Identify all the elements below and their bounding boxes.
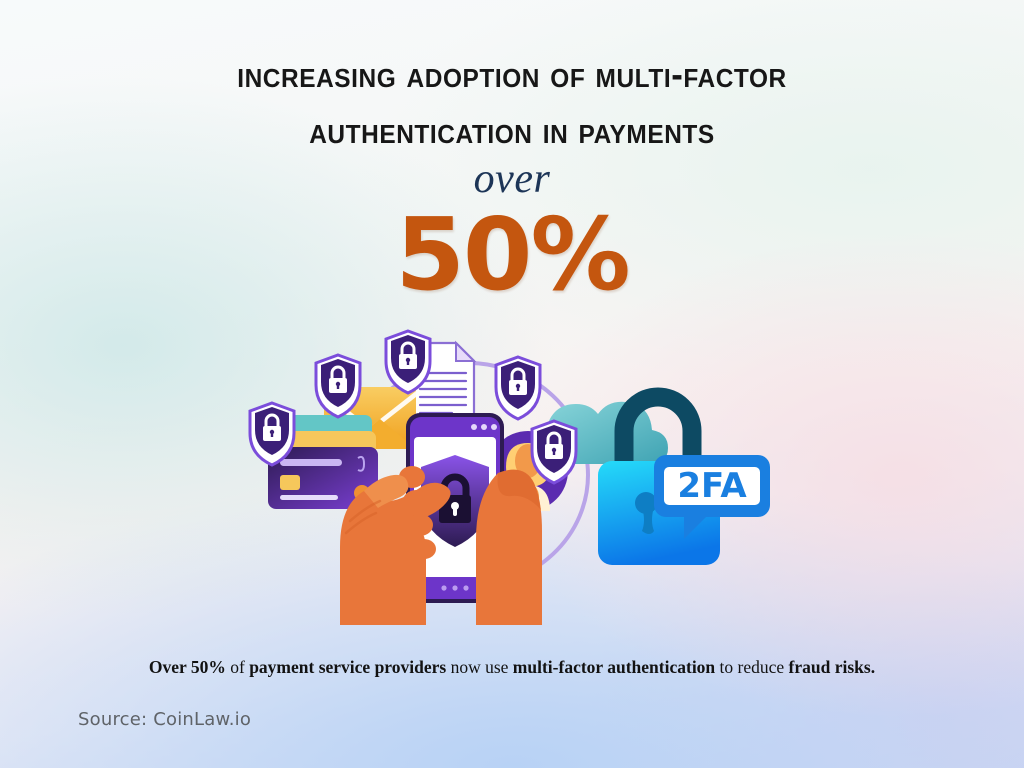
page-title-line-2: Authentication in Payments	[31, 103, 994, 159]
caption-segment-4: multi-factor authentication	[513, 657, 715, 677]
badge-2fa-label: 2FA	[677, 466, 747, 506]
shield-badge-cloud	[496, 357, 540, 419]
padlock-2fa: 2FA	[598, 397, 770, 565]
page-title-line-1: Increasing Adoption of Multi-Factor	[31, 47, 994, 103]
source-attribution: Source: CoinLaw.io	[78, 709, 251, 730]
caption-segment-5: to reduce	[715, 657, 788, 677]
caption-segment-2: payment service providers	[249, 657, 446, 677]
page-title: Increasing Adoption of Multi-Factor Auth…	[0, 47, 1024, 159]
shield-badge-email	[250, 403, 294, 465]
caption-segment-3: now use	[446, 657, 513, 677]
caption-segment-1: of	[226, 657, 249, 677]
stat-value: 50%	[0, 205, 1024, 305]
caption-text: Over 50% of payment service providers no…	[92, 654, 932, 681]
caption-segment-6: fraud risks.	[789, 657, 876, 677]
shield-badge-envelope	[316, 355, 360, 417]
caption-segment-0: Over 50%	[149, 657, 226, 677]
infographic-canvas: Increasing Adoption of Multi-Factor Auth…	[0, 0, 1024, 768]
shield-badge-document	[386, 331, 430, 393]
illustration-2fa-payments: 2FA	[246, 325, 786, 625]
shield-badge-avatar	[532, 421, 576, 483]
